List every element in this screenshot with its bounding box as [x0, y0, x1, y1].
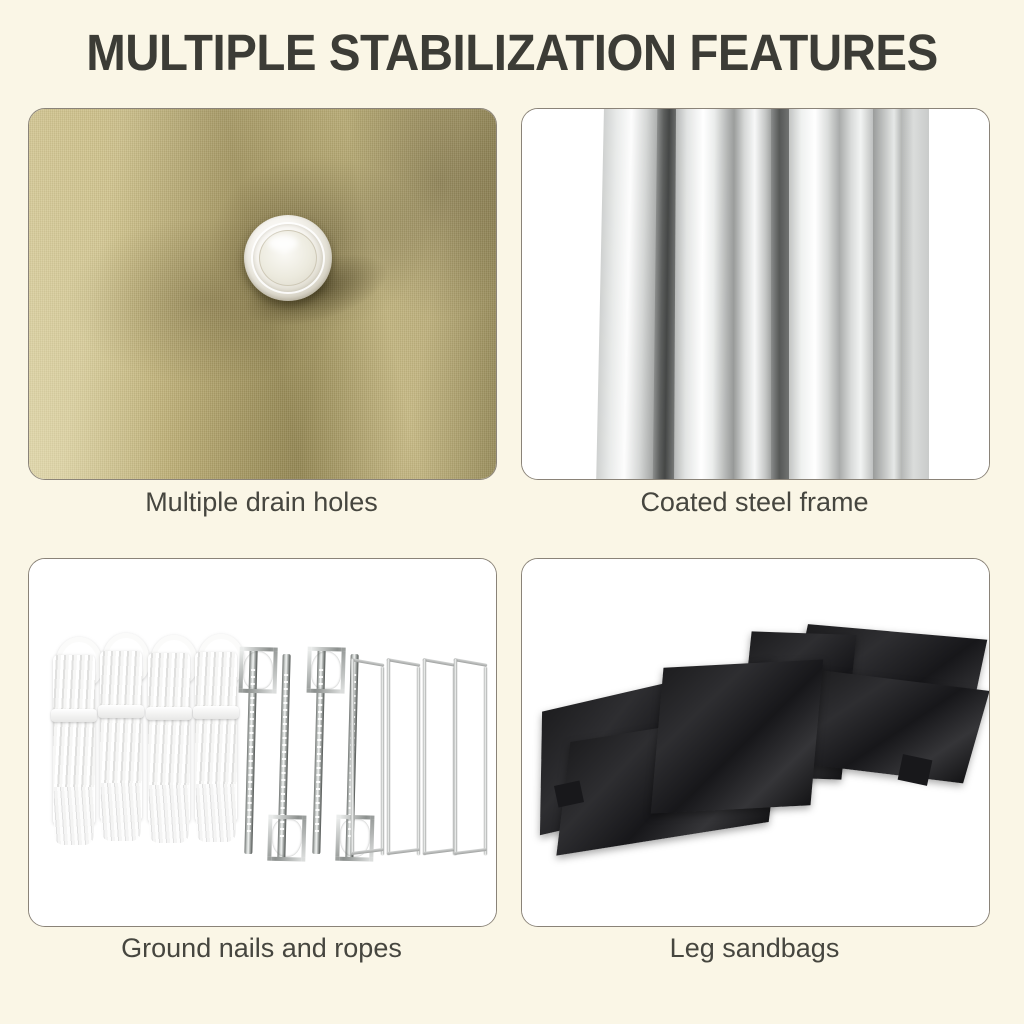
wire-peg-leg [381, 667, 384, 855]
wire-peg [351, 655, 391, 855]
steel-frame-photo [522, 109, 989, 479]
ground-stake [264, 654, 303, 860]
wire-peg [454, 655, 494, 855]
wire-peg-leg [484, 667, 487, 855]
steel-tube [901, 108, 929, 480]
rope-tie [193, 706, 239, 719]
rope-tails [149, 785, 189, 843]
drain-grommet-icon [244, 215, 332, 301]
wire-peg-leg [454, 659, 457, 855]
feature-card-leg-sandbags [521, 558, 990, 927]
wire-peg-leg [417, 667, 420, 855]
feature-card-steel-frame [521, 108, 990, 480]
wire-peg-foot [454, 848, 487, 855]
wire-peg-foot [351, 848, 384, 855]
wire-peg-bridge [422, 658, 456, 667]
sandbag [651, 659, 824, 813]
grommet-highlight [268, 235, 298, 251]
rope-tails [101, 783, 141, 841]
wire-peg-bridge [350, 658, 384, 667]
steel-tube [873, 108, 903, 480]
drain-hole-photo [29, 109, 496, 479]
leg-sandbags-photo [522, 559, 989, 926]
wire-peg-leg [351, 659, 354, 855]
rope-tie [146, 707, 192, 720]
caption-drain-holes: Multiple drain holes [28, 487, 495, 518]
steel-tube [839, 108, 875, 480]
wire-peg-bridge [386, 658, 420, 667]
steel-tube [734, 108, 774, 480]
rope-tails [196, 784, 236, 842]
steel-tube [596, 108, 662, 480]
wire-peg-leg [423, 659, 426, 855]
rope-bundle [100, 633, 142, 838]
wire-peg [387, 655, 427, 855]
page-title: MULTIPLE STABILIZATION FEATURES [36, 22, 988, 84]
rope-tie [51, 709, 97, 722]
feature-infographic: MULTIPLE STABILIZATION FEATURES Multiple… [0, 0, 1024, 1024]
rope-bundle [148, 635, 190, 840]
steel-tube [789, 108, 841, 480]
caption-steel-frame: Coated steel frame [521, 487, 988, 518]
feature-card-nails-ropes [28, 558, 497, 927]
caption-leg-sandbags: Leg sandbags [521, 933, 988, 964]
wire-peg-foot [387, 848, 420, 855]
wire-peg-bridge [453, 658, 487, 667]
rope-tails [54, 787, 94, 845]
nails-ropes-photo [29, 559, 496, 926]
steel-tube [674, 108, 738, 480]
wire-peg-leg [387, 659, 390, 855]
rope-bundle [53, 637, 95, 842]
caption-nails-ropes: Ground nails and ropes [28, 933, 495, 964]
rope-tie [98, 705, 144, 718]
steel-tube [771, 108, 791, 480]
rope-bundle [195, 634, 237, 839]
feature-card-drain-holes [28, 108, 497, 480]
wire-peg-foot [423, 848, 456, 855]
